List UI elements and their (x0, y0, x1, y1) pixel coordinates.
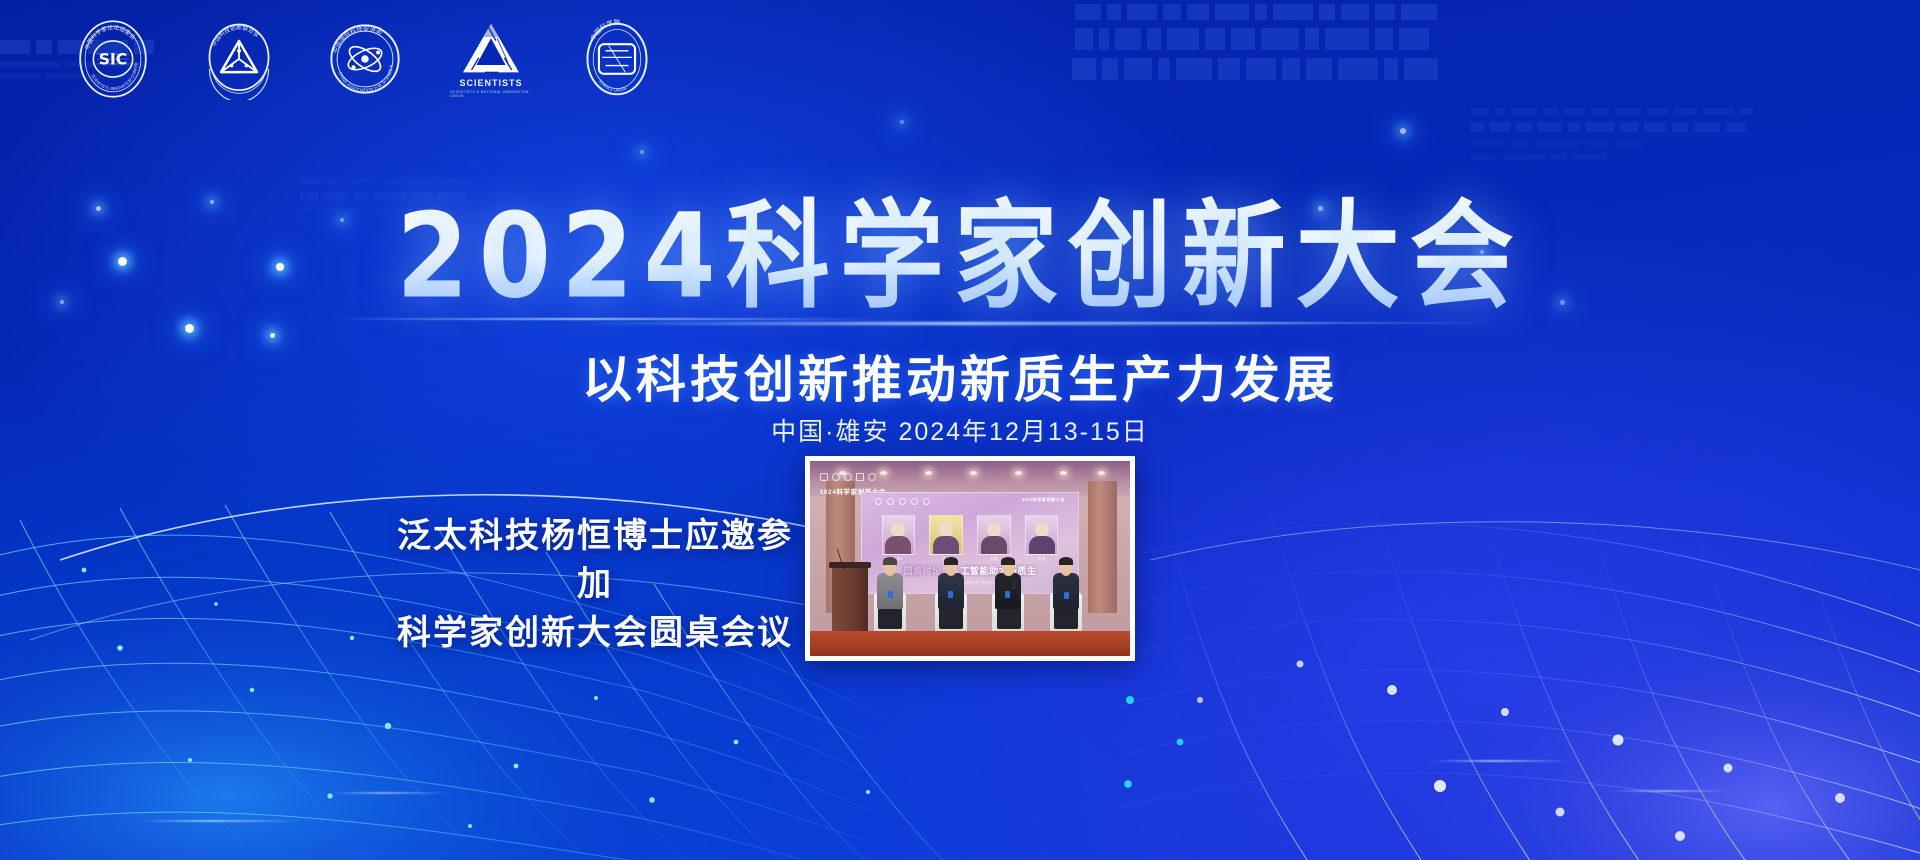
svg-text:中国国际科技促进会: 中国国际科技促进会 (331, 25, 383, 54)
svg-text:中国科学院: 中国科学院 (588, 18, 621, 42)
title-underglow-decor (580, 322, 1340, 325)
photo-podium (832, 566, 867, 636)
photo-handheld-mic (1012, 581, 1016, 590)
impossible-triangle-mark (460, 20, 522, 76)
atom-seal-logo: 中国国际科技促进会 CHINA ASSOCIATION FOR SCIENCE … (324, 18, 406, 100)
impossible-triangle-wordmark: SCIENTISTS (459, 78, 522, 88)
triangle-seal-logo: 中国科技创新联合会 (198, 18, 280, 100)
svg-text:SIC: SIC (99, 51, 127, 69)
photo-stage-icon-row (820, 473, 876, 481)
impossible-triangle-subtext: SCIENTISTS & NATIONAL INNOVATION UNION (450, 90, 532, 98)
photo-panelist (989, 553, 1027, 631)
roundtable-panel-photo: 2024科学家创新大会 2024科学家创新大会 主持人 嘉 宾 (805, 456, 1135, 661)
photo-banner-sub: 2024科学家创新大会·圆桌论坛 (884, 580, 1057, 586)
page-title: 2024科学家创新大会 (396, 193, 1523, 319)
svg-text:中国科学家论坛组委会: 中国科学家论坛组委会 (83, 23, 138, 50)
caption-line-1: 泛太科技杨恒博士应邀参加 (395, 512, 795, 609)
photo-panelist (871, 553, 909, 631)
organizer-logos-row: SIC 中国科学家论坛组委会 SCIENTISTS INNOVATION CON… (72, 18, 658, 100)
photo-panelist (1047, 553, 1085, 631)
photo-panelist (932, 553, 970, 631)
oval-emblem-logo: 中国科学院 SCIENCE UNION (576, 18, 658, 100)
impossible-triangle-logo: SCIENTISTS SCIENTISTS & NATIONAL INNOVAT… (450, 18, 532, 100)
photo-screen-header: 2024科学家创新大会 (1022, 497, 1065, 503)
subtitle: 以科技创新推动新质生产力发展 (0, 340, 1920, 412)
photo-screen-icons (875, 498, 930, 505)
svg-text:中国科技创新联合会: 中国科技创新联合会 (210, 23, 262, 47)
dateline: 中国·雄安 2024年12月13-15日 (0, 412, 1920, 448)
caption-line-2: 科学家创新大会圆桌会议 (395, 609, 795, 657)
photo-content: 2024科学家创新大会 2024科学家创新大会 主持人 嘉 宾 (810, 461, 1130, 656)
event-caption: 泛太科技杨恒博士应邀参加 科学家创新大会圆桌会议 (395, 512, 795, 657)
photo-stage-floor (810, 631, 1130, 656)
conference-poster: SIC 中国科学家论坛组委会 SCIENTISTS INNOVATION CON… (0, 0, 1920, 860)
sic-seal-logo: SIC 中国科学家论坛组委会 SCIENTISTS INNOVATION CON… (72, 18, 154, 100)
main-title-wrap: 2024科学家创新大会 (0, 200, 1920, 312)
